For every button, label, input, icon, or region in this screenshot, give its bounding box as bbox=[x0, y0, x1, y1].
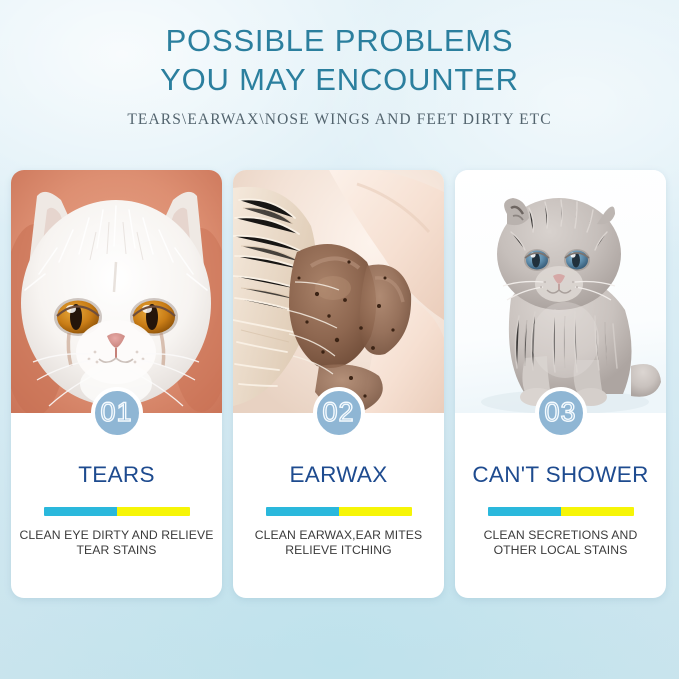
scottish-fold-kitten-photo bbox=[455, 170, 666, 413]
divider-cyan-segment bbox=[488, 507, 561, 516]
header: POSSIBLE PROBLEMS YOU MAY ENCOUNTER TEAR… bbox=[0, 0, 679, 129]
problem-cards-row: 01 TEARS CLEAN EYE DIRTY AND RELIEVE TEA… bbox=[11, 170, 668, 598]
card-number: 01 bbox=[100, 399, 132, 428]
problem-card-tears[interactable]: 01 TEARS CLEAN EYE DIRTY AND RELIEVE TEA… bbox=[11, 170, 222, 598]
card-title: CAN'T SHOWER bbox=[455, 462, 666, 488]
card-title: EARWAX bbox=[233, 462, 444, 488]
cat-ear-earwax-photo bbox=[233, 170, 444, 413]
cat-face-white-photo bbox=[11, 170, 222, 413]
divider-cyan-segment bbox=[44, 507, 117, 516]
card-description: CLEAN SECRETIONS AND OTHER LOCAL STAINS bbox=[463, 528, 658, 557]
promo-graphic: POSSIBLE PROBLEMS YOU MAY ENCOUNTER TEAR… bbox=[0, 0, 679, 679]
card-description: CLEAN EARWAX,EAR MITES RELIEVE ITCHING bbox=[241, 528, 436, 557]
card-number-badge: 03 bbox=[535, 387, 587, 439]
page-title-line-2: YOU MAY ENCOUNTER bbox=[0, 60, 679, 99]
problem-card-cant-shower[interactable]: 03 CAN'T SHOWER CLEAN SECRETIONS AND OTH… bbox=[455, 170, 666, 598]
card-number-badge: 01 bbox=[91, 387, 143, 439]
title-divider bbox=[266, 507, 412, 516]
divider-yellow-segment bbox=[117, 507, 190, 516]
divider-cyan-segment bbox=[266, 507, 339, 516]
divider-yellow-segment bbox=[339, 507, 412, 516]
divider-yellow-segment bbox=[561, 507, 634, 516]
card-number: 02 bbox=[322, 399, 354, 428]
card-number: 03 bbox=[544, 399, 576, 428]
card-title: TEARS bbox=[11, 462, 222, 488]
problem-card-earwax[interactable]: 02 EARWAX CLEAN EARWAX,EAR MITES RELIEVE… bbox=[233, 170, 444, 598]
page-title-line-1: POSSIBLE PROBLEMS bbox=[0, 21, 679, 60]
page-subtitle: TEARS\EARWAX\NOSE WINGS AND FEET DIRTY E… bbox=[0, 111, 679, 129]
title-divider bbox=[44, 507, 190, 516]
card-description: CLEAN EYE DIRTY AND RELIEVE TEAR STAINS bbox=[19, 528, 214, 557]
title-divider bbox=[488, 507, 634, 516]
card-number-badge: 02 bbox=[313, 387, 365, 439]
